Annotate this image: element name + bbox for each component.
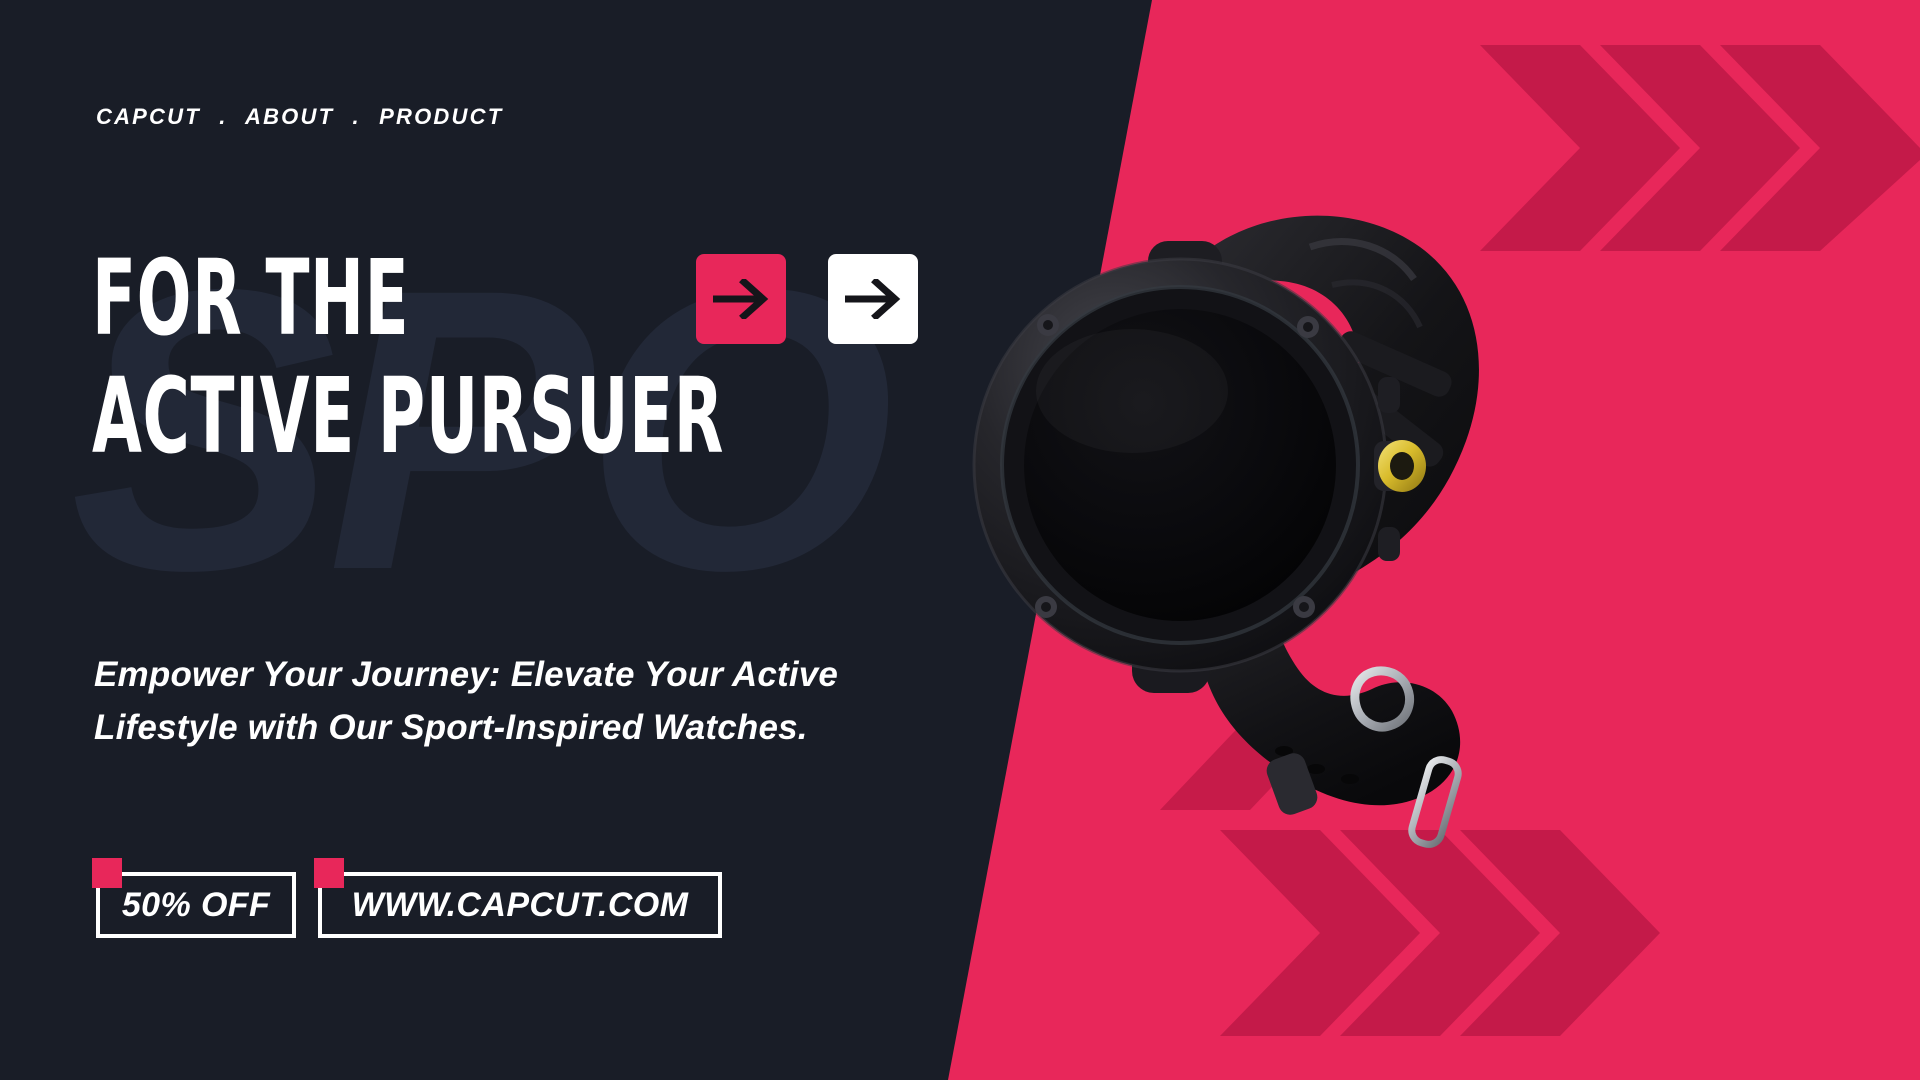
- content-layer: CAPCUT . ABOUT . PRODUCT FOR THE: [0, 0, 1920, 1080]
- cta-arrow-group: [696, 254, 918, 344]
- badge-corner-square: [92, 858, 122, 888]
- badge-row: 50% OFF WWW.CAPCUT.COM: [96, 872, 722, 938]
- headline-line-2: ACTIVE PURSUER: [92, 371, 724, 463]
- subtitle-line-2: Lifestyle with Our Sport-Inspired Watche…: [94, 701, 838, 754]
- nav-item-capcut[interactable]: CAPCUT: [96, 104, 201, 129]
- arrow-right-icon: [713, 279, 769, 319]
- website-badge[interactable]: WWW.CAPCUT.COM: [318, 872, 722, 938]
- nav-item-about[interactable]: ABOUT: [245, 104, 334, 129]
- nav-item-product[interactable]: PRODUCT: [379, 104, 503, 129]
- top-navigation[interactable]: CAPCUT . ABOUT . PRODUCT: [96, 104, 503, 130]
- headline-row-1: FOR THE: [92, 255, 1111, 343]
- website-badge-label: WWW.CAPCUT.COM: [352, 886, 689, 925]
- discount-badge-label: 50% OFF: [122, 886, 270, 925]
- headline-row-2: ACTIVE PURSUER: [92, 373, 1111, 461]
- headline-line-1: FOR THE: [92, 253, 409, 345]
- cta-arrow-pink-button[interactable]: [696, 254, 786, 344]
- arrow-right-icon: [845, 279, 901, 319]
- nav-separator-1: .: [209, 104, 237, 130]
- subtitle-block: Empower Your Journey: Elevate Your Activ…: [94, 648, 838, 754]
- banner-canvas: SPO: [0, 0, 1920, 1080]
- cta-arrow-white-button[interactable]: [828, 254, 918, 344]
- discount-badge[interactable]: 50% OFF: [96, 872, 296, 938]
- subtitle-line-1: Empower Your Journey: Elevate Your Activ…: [94, 648, 838, 701]
- badge-corner-square: [314, 858, 344, 888]
- nav-separator-2: .: [343, 104, 371, 130]
- headline-block: FOR THE: [92, 255, 1111, 461]
